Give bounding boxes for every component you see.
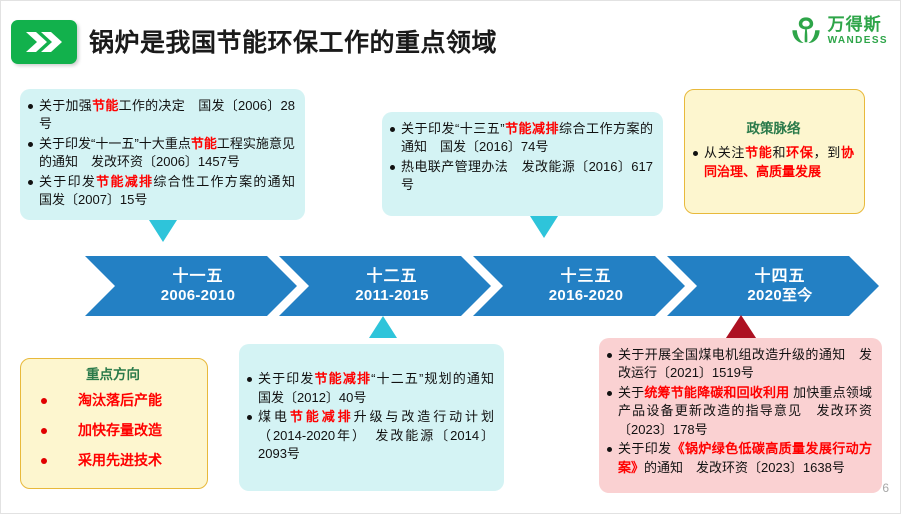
brand-logo: 万得斯 WANDESS bbox=[790, 15, 888, 47]
list-item: 热电联产管理办法 发改能源〔2016〕617号 bbox=[390, 158, 653, 195]
connector-triangle-down-13th bbox=[530, 216, 558, 238]
list-item: 加快存量改造 bbox=[29, 420, 197, 441]
list-item: 煤电节能减排升级与改造行动计划（2014-2020年） 发改能源〔2014〕20… bbox=[247, 408, 494, 463]
timeline-era-label: 十二五 bbox=[366, 268, 417, 286]
list-item: 淘汰落后产能 bbox=[29, 390, 197, 411]
timeline-step-12th[interactable]: 十二五 2011-2015 bbox=[279, 256, 491, 316]
list-item: 采用先进技术 bbox=[29, 450, 197, 471]
policy-card-13th-five-year-plan: 关于印发“十三五”节能减排综合工作方案的通知 国发〔2016〕74号热电联产管理… bbox=[382, 112, 663, 216]
policy-list: 关于印发“十三五”节能减排综合工作方案的通知 国发〔2016〕74号热电联产管理… bbox=[390, 120, 653, 195]
policy-list: 关于开展全国煤电机组改造升级的通知 发改运行〔2021〕1519号关于统筹节能降… bbox=[607, 346, 872, 477]
policy-card-12th-five-year-plan: 关于印发节能减排“十二五”规划的通知 国发〔2012〕40号煤电节能减排升级与改… bbox=[239, 344, 504, 491]
policy-card-14th-five-year-plan: 关于开展全国煤电机组改造升级的通知 发改运行〔2021〕1519号关于统筹节能降… bbox=[599, 338, 882, 493]
key-directions-list: 淘汰落后产能加快存量改造采用先进技术 bbox=[29, 390, 197, 480]
list-item: 关于加强节能工作的决定 国发〔2006〕28号 bbox=[28, 97, 295, 134]
list-item: 从关注节能和环保，到协同治理、高质量发展 bbox=[693, 144, 854, 181]
list-item: 关于印发“十三五”节能减排综合工作方案的通知 国发〔2016〕74号 bbox=[390, 120, 653, 157]
page-title: 锅炉是我国节能环保工作的重点领域 bbox=[89, 23, 497, 59]
timeline-year-range: 2006-2010 bbox=[161, 287, 235, 304]
slide-canvas: 锅炉是我国节能环保工作的重点领域 万得斯 WANDESS 关于加强节能工作的决定… bbox=[0, 0, 901, 514]
policy-context-heading: 政策脉络 bbox=[693, 121, 854, 137]
timeline-chevron-band: 十一五 2006-2010 十二五 2011-2015 十三五 2016-202… bbox=[1, 256, 901, 316]
list-item: 关于开展全国煤电机组改造升级的通知 发改运行〔2021〕1519号 bbox=[607, 346, 872, 383]
policy-list: 关于印发节能减排“十二五”规划的通知 国发〔2012〕40号煤电节能减排升级与改… bbox=[247, 370, 494, 464]
key-directions-heading: 重点方向 bbox=[29, 367, 197, 383]
list-item: 关于印发“十一五”十大重点节能工程实施意见的通知 发改环资〔2006〕1457号 bbox=[28, 135, 295, 172]
connector-triangle-down-11th bbox=[149, 220, 177, 242]
timeline-era-label: 十四五 bbox=[754, 268, 805, 286]
policy-card-11th-five-year-plan: 关于加强节能工作的决定 国发〔2006〕28号关于印发“十一五”十大重点节能工程… bbox=[20, 89, 305, 220]
brand-name-cn: 万得斯 bbox=[828, 16, 888, 33]
brand-name-en: WANDESS bbox=[828, 36, 888, 46]
timeline-era-label: 十三五 bbox=[560, 268, 611, 286]
list-item: 关于印发《锅炉绿色低碳高质量发展行动方案》的通知 发改环资〔2023〕1638号 bbox=[607, 440, 872, 477]
wandess-leaf-icon bbox=[790, 15, 822, 47]
timeline-year-range: 2011-2015 bbox=[355, 287, 429, 304]
timeline-year-range: 2020至今 bbox=[747, 287, 812, 304]
list-item: 关于统筹节能降碳和回收利用 加快重点领域产品设备更新改造的指导意见 发改环资〔2… bbox=[607, 384, 872, 439]
timeline-step-11th[interactable]: 十一五 2006-2010 bbox=[85, 256, 297, 316]
timeline-era-label: 十一五 bbox=[172, 268, 223, 286]
timeline-step-14th[interactable]: 十四五 2020至今 bbox=[667, 256, 879, 316]
page-number: 6 bbox=[882, 481, 889, 495]
list-item: 关于印发节能减排综合性工作方案的通知 国发〔2007〕15号 bbox=[28, 173, 295, 210]
policy-context-list: 从关注节能和环保，到协同治理、高质量发展 bbox=[693, 144, 854, 182]
connector-triangle-up-12th bbox=[369, 316, 397, 338]
policy-list: 关于加强节能工作的决定 国发〔2006〕28号关于印发“十一五”十大重点节能工程… bbox=[28, 97, 295, 210]
policy-context-card: 政策脉络 从关注节能和环保，到协同治理、高质量发展 bbox=[684, 89, 865, 214]
slide-header: 锅炉是我国节能环保工作的重点领域 万得斯 WANDESS bbox=[1, 1, 901, 75]
timeline-step-13th[interactable]: 十三五 2016-2020 bbox=[473, 256, 685, 316]
double-chevron-right-icon bbox=[11, 20, 77, 64]
list-item: 关于印发节能减排“十二五”规划的通知 国发〔2012〕40号 bbox=[247, 370, 494, 407]
timeline-year-range: 2016-2020 bbox=[549, 287, 623, 304]
key-directions-card: 重点方向 淘汰落后产能加快存量改造采用先进技术 bbox=[20, 358, 208, 489]
